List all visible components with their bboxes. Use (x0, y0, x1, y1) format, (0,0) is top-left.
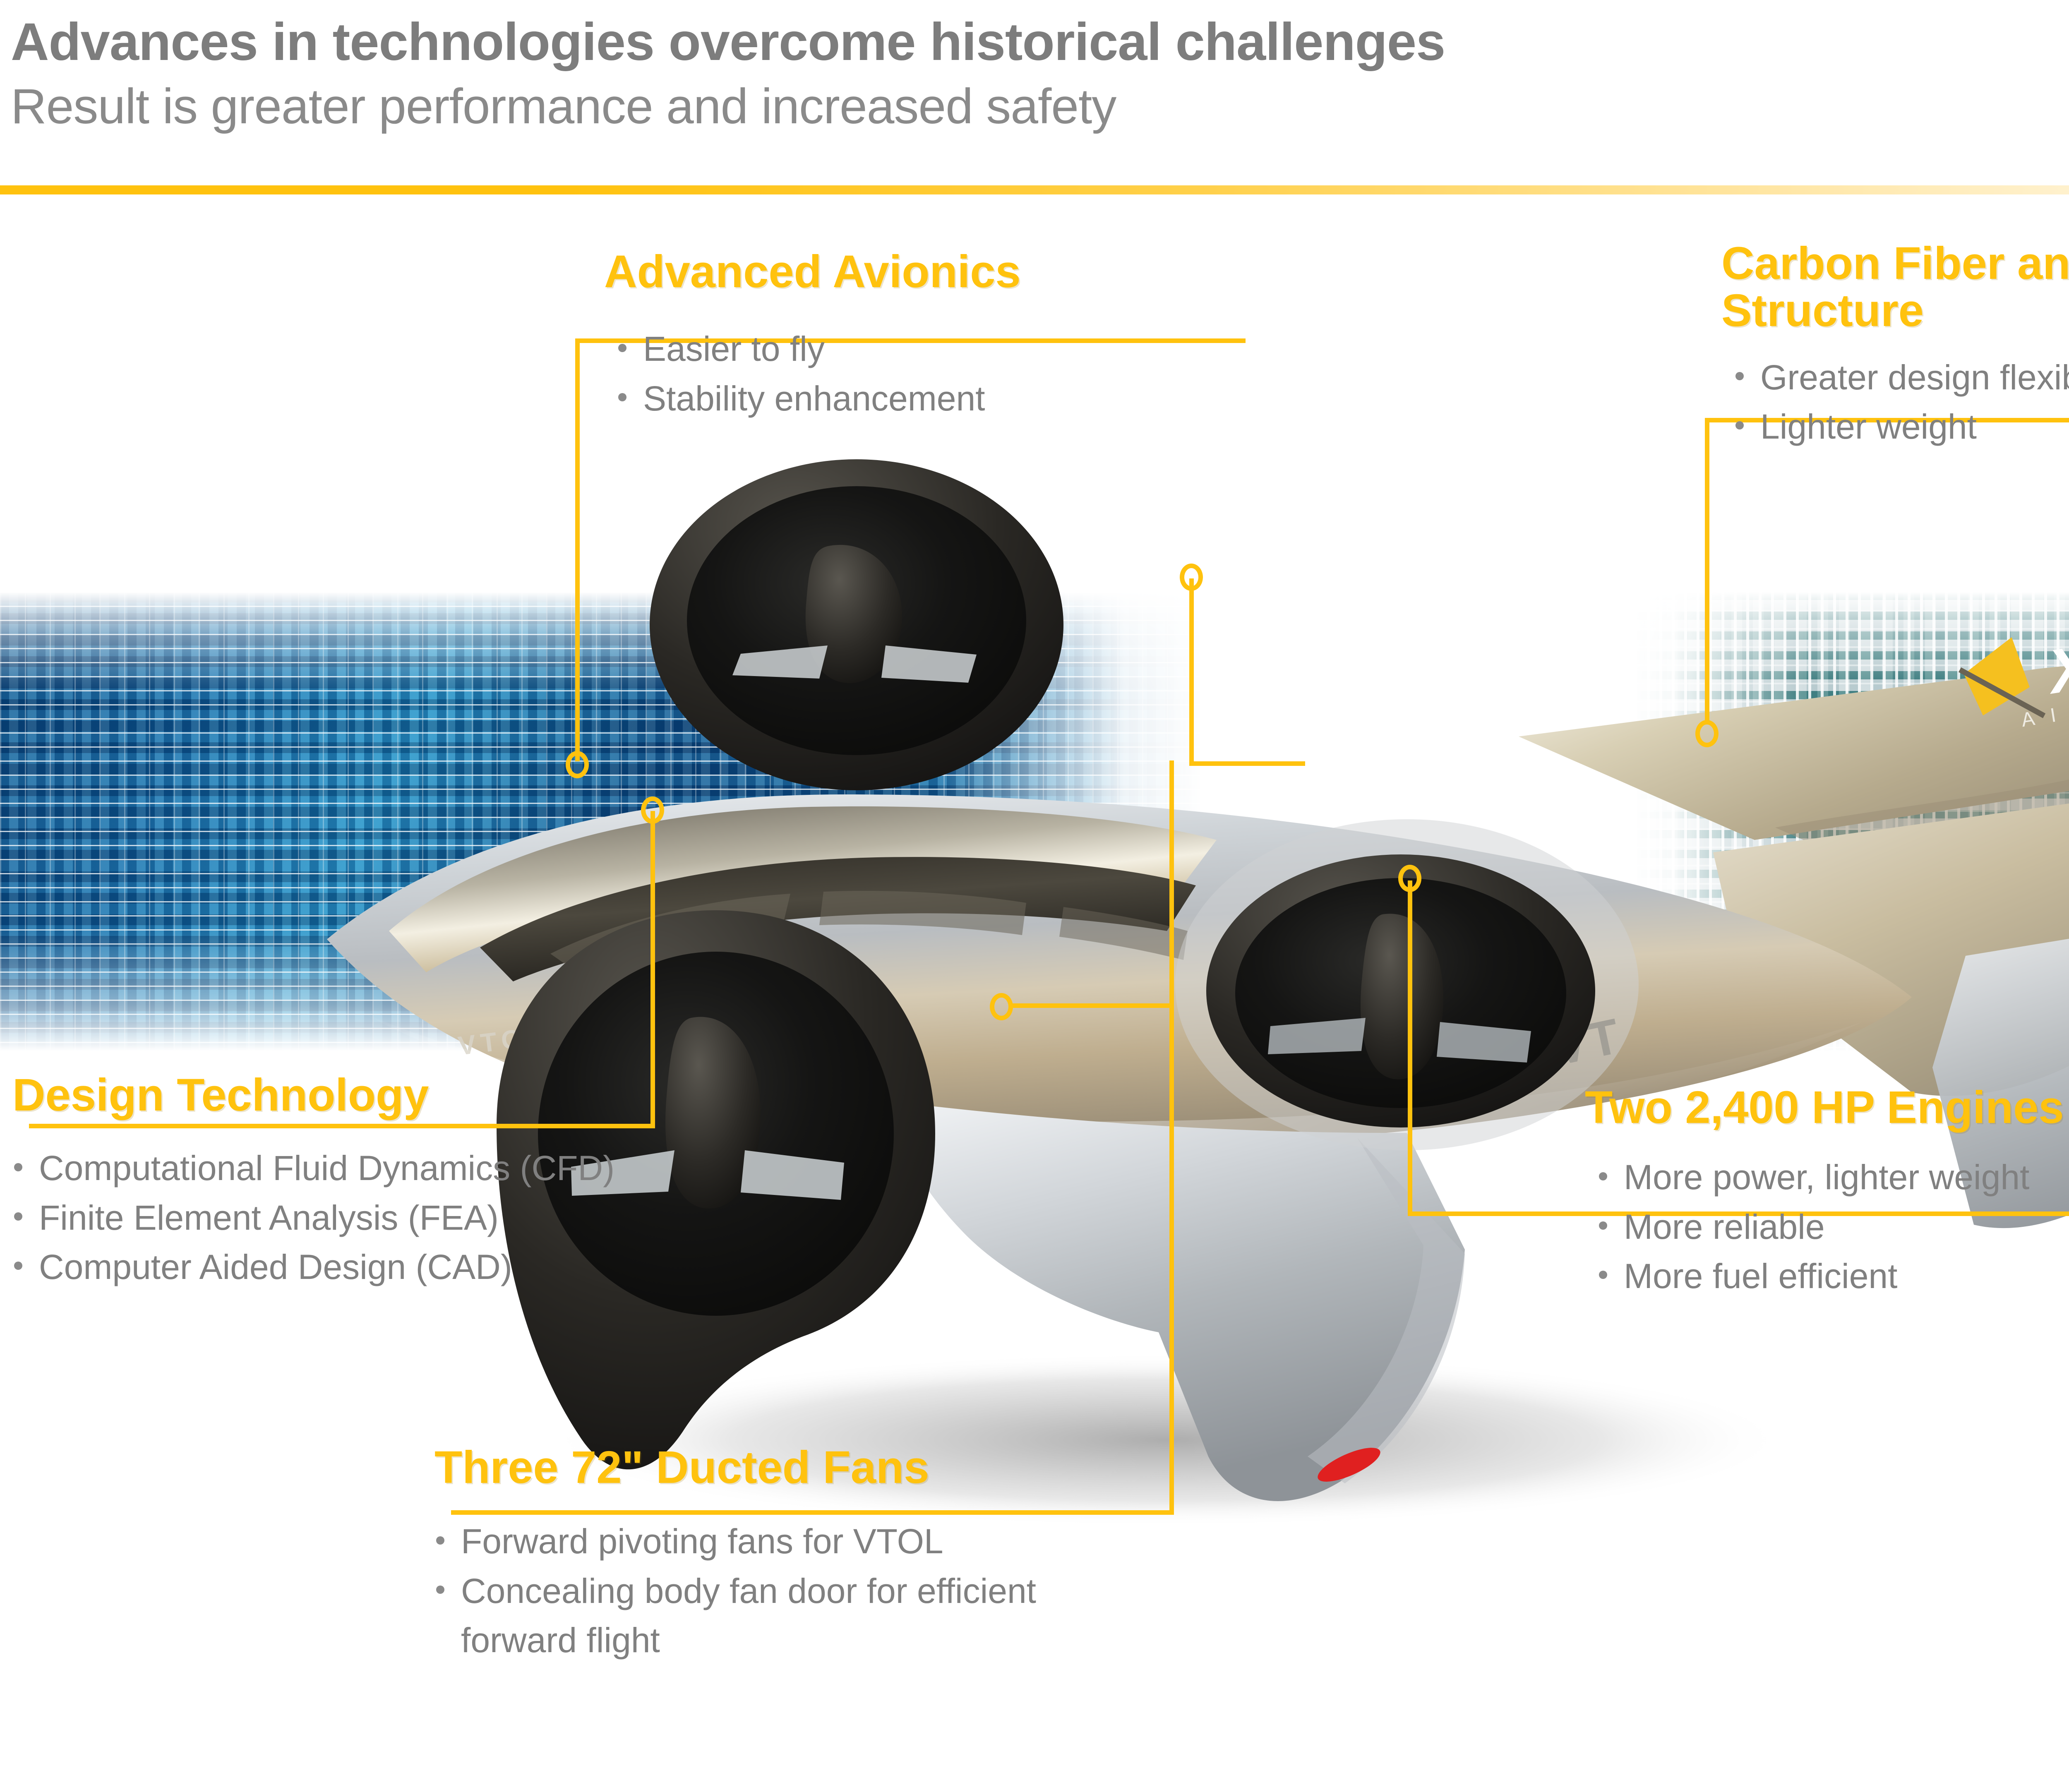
bullet-item: Lighter weight (1730, 402, 2069, 451)
bullet-item: Easier to fly (612, 324, 1021, 374)
page-subtitle: Result is greater performance and increa… (11, 79, 1445, 134)
callout-bullets-carbon: Greater design flexibility Lighter weigh… (1730, 353, 2069, 452)
bullet-item: Finite Element Analysis (FEA) (8, 1193, 614, 1243)
aircraft-svg: VTOL N340VT (265, 422, 2069, 1547)
callout-carbon-fiber: Carbon Fiber and Epoxy Structure Greater… (1721, 240, 2069, 451)
callout-ducted-fans: Three 72" Ducted Fans Forward pivoting f… (434, 1444, 1049, 1665)
callout-bullets-avionics: Easier to fly Stability enhancement (612, 324, 1021, 423)
fan-top-leader-horizontal (1189, 761, 1305, 766)
slide-canvas: Advances in technologies overcome histor… (0, 0, 2069, 1792)
callout-bullets-fans: Forward pivoting fans for VTOL Concealin… (430, 1517, 1049, 1665)
callout-bullets-engines: More power, lighter weight More reliable… (1593, 1153, 2064, 1301)
fans-anchor-dot (990, 993, 1013, 1020)
callout-design-technology: Design Technology Computational Fluid Dy… (12, 1072, 614, 1292)
engines-leader-vertical (1408, 880, 1412, 1216)
bullet-item: More fuel efficient (1593, 1252, 2064, 1301)
callout-heading-carbon: Carbon Fiber and Epoxy Structure (1721, 240, 2069, 335)
fan-top-anchor-dot (1180, 564, 1203, 591)
bullet-item: Greater design flexibility (1730, 353, 2069, 402)
avionics-anchor-dot (566, 751, 589, 778)
bullet-item: Computer Aided Design (CAD) (8, 1243, 614, 1292)
carbon-anchor-dot (1695, 720, 1719, 747)
xti-trifan-aircraft-image: VTOL N340VT (265, 422, 2069, 1547)
callout-advanced-avionics: Advanced Avionics Easier to fly Stabilit… (604, 248, 1021, 423)
callout-heading-fans: Three 72" Ducted Fans (434, 1444, 1049, 1491)
bullet-item: More power, lighter weight (1593, 1153, 2064, 1202)
bullet-item: Stability enhancement (612, 374, 1021, 423)
callout-heading-design: Design Technology (12, 1072, 614, 1119)
engines-anchor-dot (1398, 865, 1421, 892)
bullet-item: Forward pivoting fans for VTOL (430, 1517, 1049, 1566)
fans-leader-vertical (1169, 760, 1174, 1514)
engines-leader-horizontal (1408, 1211, 1615, 1216)
page-title: Advances in technologies overcome histor… (11, 14, 1445, 70)
callout-engines: Two 2,400 HP Engines More power, lighter… (1585, 1084, 2064, 1301)
bullet-item: Computational Fluid Dynamics (CFD) (8, 1144, 614, 1193)
title-block: Advances in technologies overcome histor… (11, 14, 1445, 134)
carbon-leader-vertical (1705, 418, 1709, 724)
fans-leader-horizontal (1010, 1003, 1171, 1008)
title-divider-rule (0, 185, 2069, 194)
fan-top-leader-vertical (1189, 578, 1194, 765)
avionics-leader-vertical (575, 338, 580, 761)
design-anchor-dot (641, 796, 664, 824)
callout-heading-avionics: Advanced Avionics (604, 248, 1021, 295)
carbon-frame-corner (1705, 418, 1709, 423)
callout-bullets-design: Computational Fluid Dynamics (CFD) Finit… (8, 1144, 614, 1292)
bullet-item: Concealing body fan door for efficient f… (430, 1567, 1049, 1665)
callout-heading-engines: Two 2,400 HP Engines (1585, 1084, 2064, 1131)
ducted-fan-top (650, 459, 1063, 790)
bullet-item: More reliable (1593, 1202, 2064, 1252)
design-leader-vertical (650, 811, 655, 1125)
